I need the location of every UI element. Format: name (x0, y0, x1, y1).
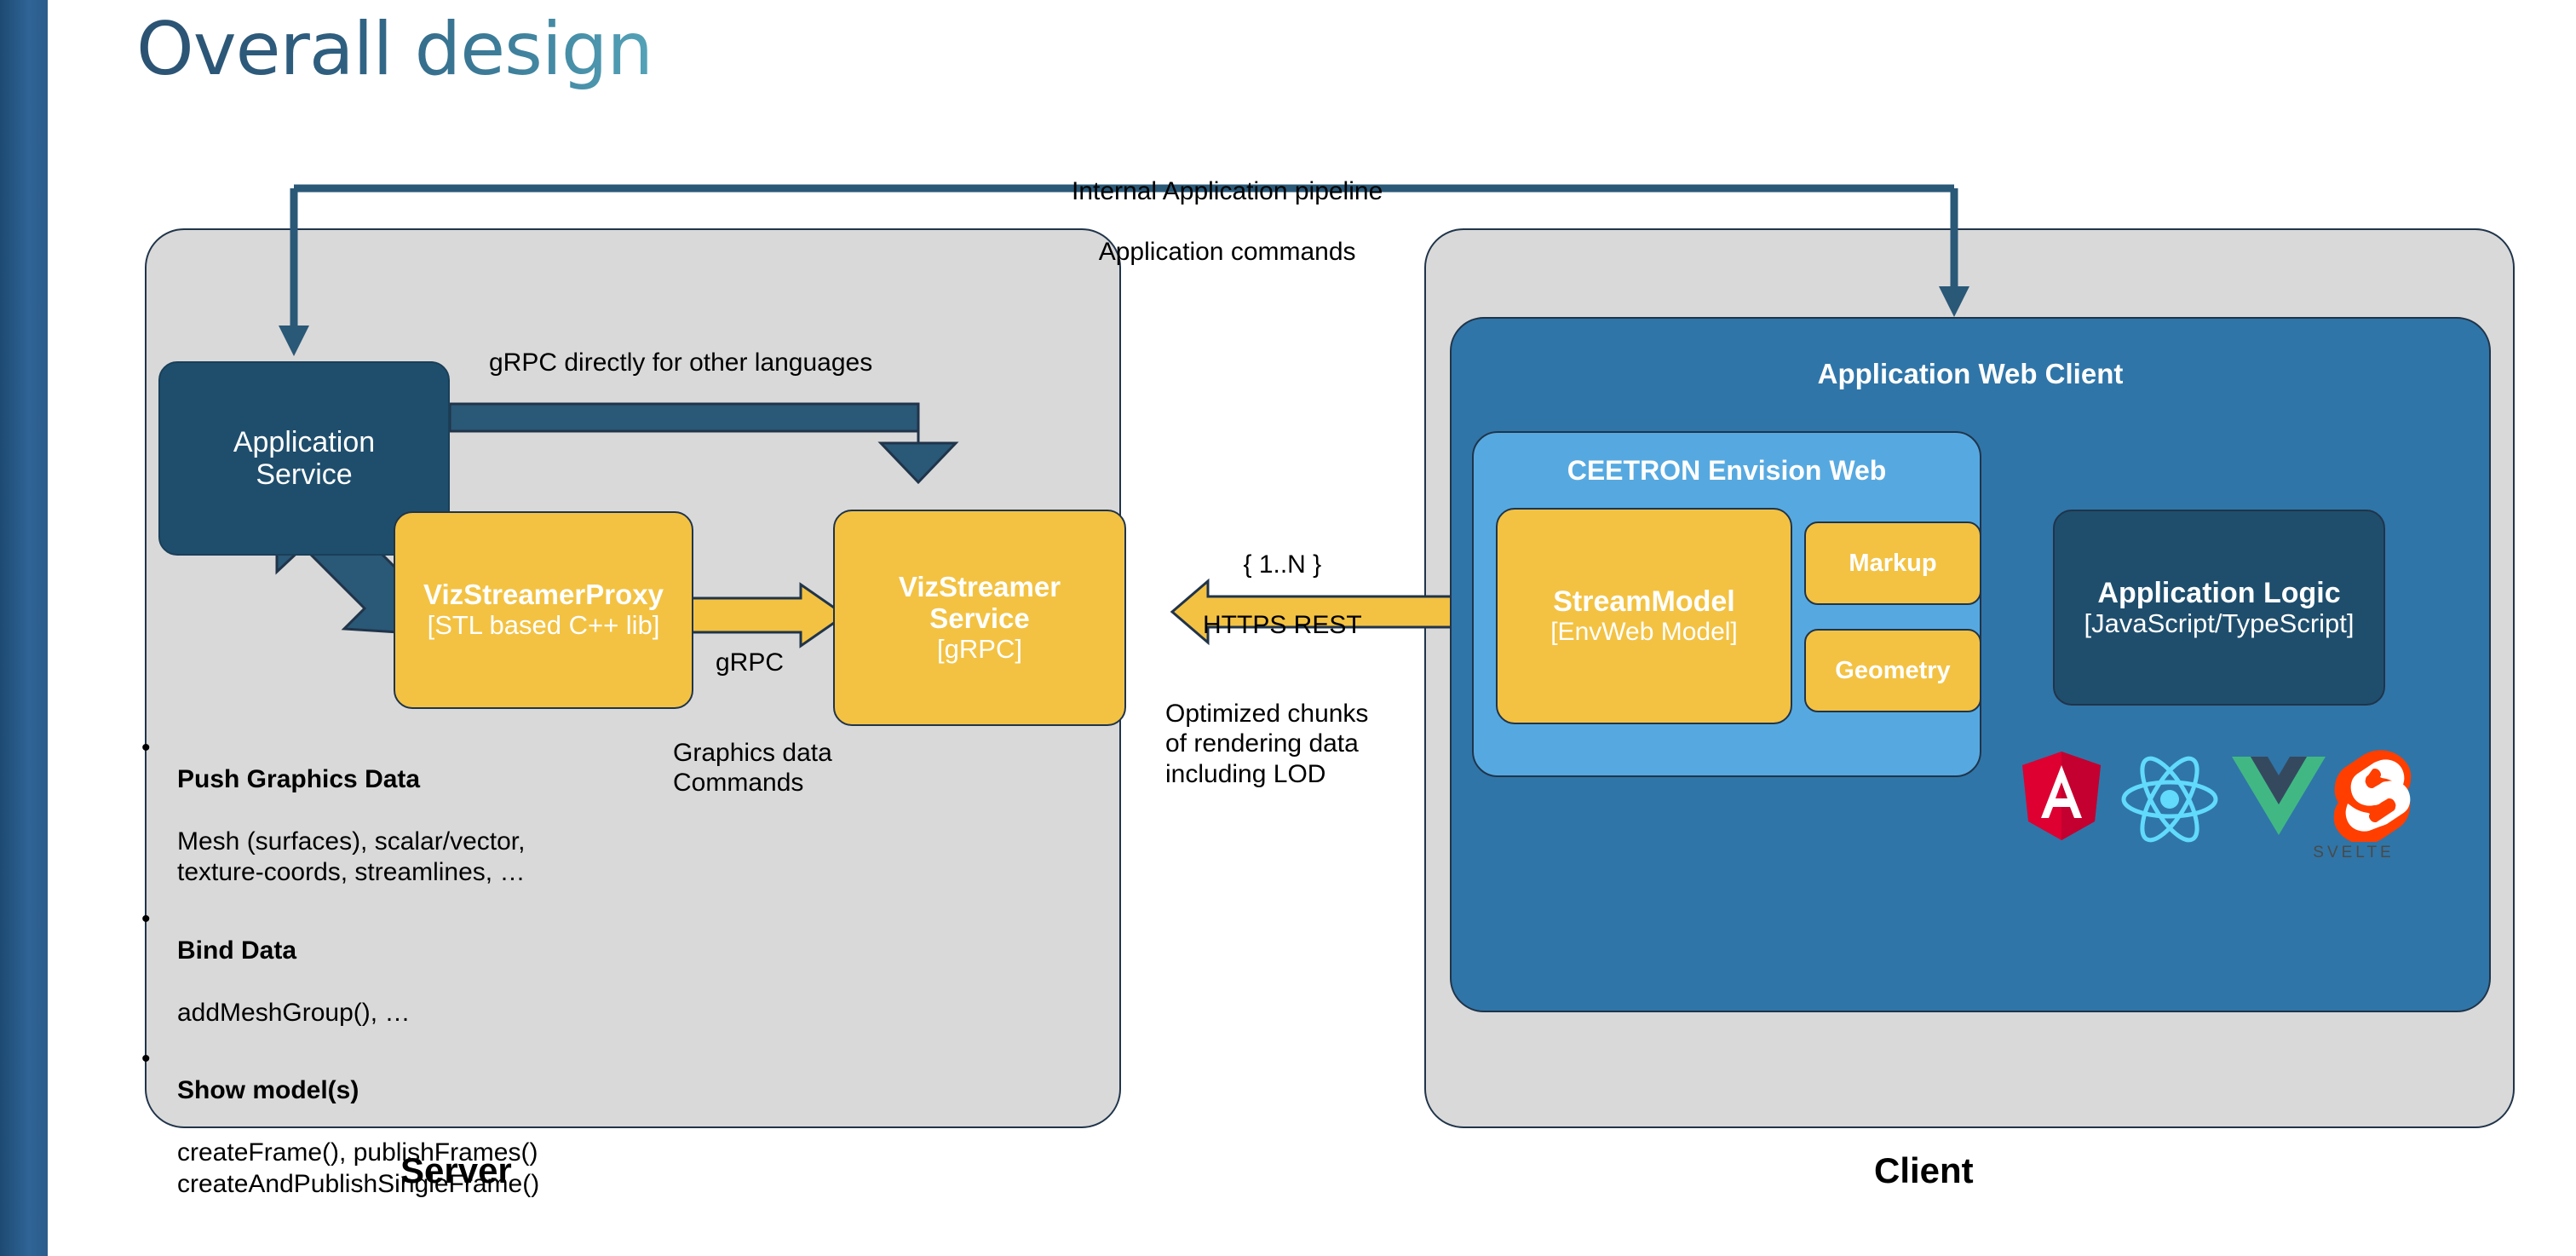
geometry-label: Geometry (1835, 657, 1950, 684)
label-grpc: gRPC (716, 648, 784, 677)
markup-label: Markup (1849, 550, 1936, 577)
bullet-dot-icon: • (141, 733, 177, 889)
server-caption: Server (400, 1150, 512, 1191)
ceetron-envision-web-label: CEETRON Envision Web (1474, 455, 1980, 487)
node-markup[interactable]: Markup (1804, 521, 1981, 605)
node-vizstreamer-service[interactable]: VizStreamer Service [gRPC] (833, 510, 1126, 726)
vizstreamer-service-title2: Service (929, 603, 1029, 635)
label-graphics-data-commands: Graphics data Commands (673, 738, 832, 798)
stream-model-title: StreamModel (1553, 585, 1735, 618)
application-logic-title: Application Logic (2097, 577, 2340, 609)
node-geometry[interactable]: Geometry (1804, 629, 1981, 712)
node-vizstreamer-proxy[interactable]: VizStreamerProxy [STL based C++ lib] (394, 511, 693, 709)
node-application-logic[interactable]: Application Logic [JavaScript/TypeScript… (2053, 510, 2385, 706)
bullet-dot-icon: • (141, 904, 177, 1028)
node-stream-model[interactable]: StreamModel [EnvWeb Model] (1496, 508, 1792, 724)
pipeline-label-line1: Internal Application pipeline (1072, 176, 1383, 206)
https-count: { 1..N } (1203, 550, 1362, 579)
application-service-line1: Application (233, 426, 375, 458)
svelte-icon (2332, 750, 2421, 842)
bullet-heading: Bind Data (177, 936, 410, 967)
list-item: • Push Graphics Data Mesh (surfaces), sc… (141, 733, 687, 889)
bullet-heading: Show model(s) (177, 1075, 539, 1107)
vizstreamer-service-subtitle: [gRPC] (937, 635, 1022, 665)
bullet-dot-icon: • (141, 1044, 177, 1200)
bullet-body: Mesh (surfaces), scalar/vector, texture-… (177, 827, 525, 887)
https-protocol: HTTPS REST (1203, 610, 1362, 640)
label-grpc-other-languages: gRPC directly for other languages (489, 348, 872, 377)
slide-accent-bar (0, 0, 48, 1256)
vue-icon (2232, 755, 2326, 837)
pipeline-label-line2: Application commands (1072, 237, 1383, 267)
pipeline-label: Internal Application pipeline Applicatio… (1072, 147, 1383, 297)
server-bullet-list: • Push Graphics Data Mesh (surfaces), sc… (141, 733, 687, 1215)
application-web-client-label: Application Web Client (1452, 358, 2489, 390)
bullet-heading: Push Graphics Data (177, 764, 525, 796)
page-title: Overall design (136, 7, 653, 92)
application-logic-subtitle: [JavaScript/TypeScript] (2084, 609, 2354, 639)
application-service-line2: Service (256, 458, 352, 491)
react-icon (2119, 755, 2220, 844)
vizstreamer-proxy-subtitle: [STL based C++ lib] (428, 611, 660, 641)
vizstreamer-service-title: VizStreamer (899, 572, 1061, 603)
bullet-body: addMeshGroup(), … (177, 999, 410, 1027)
client-caption: Client (1874, 1150, 1974, 1191)
angular-icon (2019, 750, 2104, 842)
list-item: • Bind Data addMeshGroup(), … (141, 904, 687, 1028)
stream-model-subtitle: [EnvWeb Model] (1550, 618, 1738, 647)
label-https-rest: { 1..N } HTTPS REST (1203, 520, 1362, 671)
vizstreamer-proxy-title: VizStreamerProxy (423, 579, 664, 611)
label-optimized-chunks: Optimized chunks of rendering data inclu… (1165, 699, 1368, 789)
svelte-wordmark: SVELTE (2298, 844, 2409, 862)
